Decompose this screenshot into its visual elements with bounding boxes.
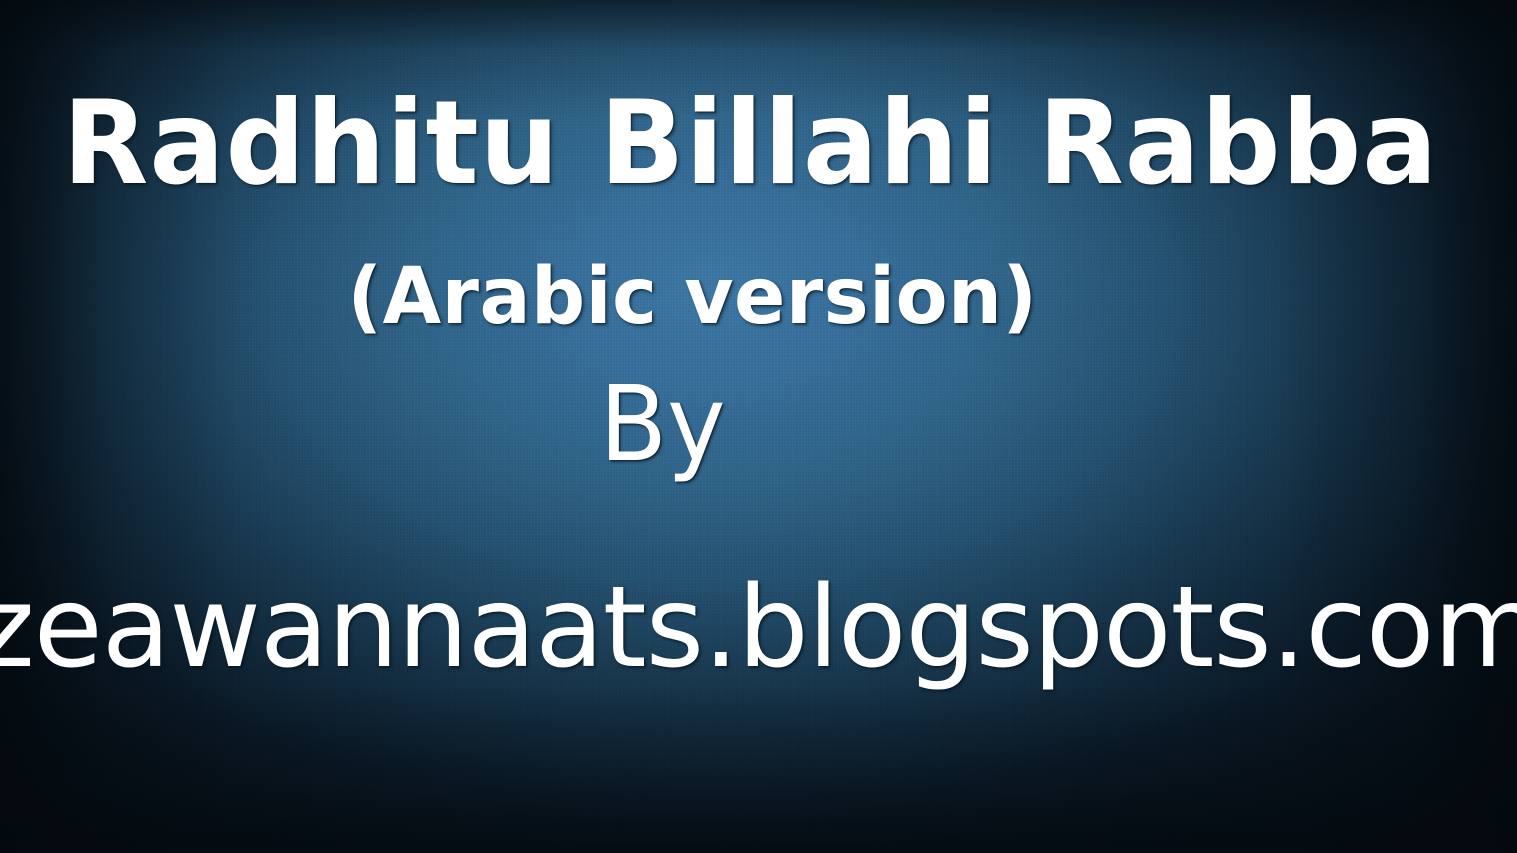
slide-content: Radhitu Billahi Rabba (Arabic version) B… (0, 0, 1517, 853)
slide-title: Radhitu Billahi Rabba (22, 86, 1478, 202)
title-slide: Radhitu Billahi Rabba (Arabic version) B… (0, 0, 1517, 853)
credit-url: zeawannaats.blogspots.com (0, 572, 1493, 684)
slide-subtitle: (Arabic version) (0, 258, 1428, 336)
byline-label: By (0, 372, 1383, 476)
